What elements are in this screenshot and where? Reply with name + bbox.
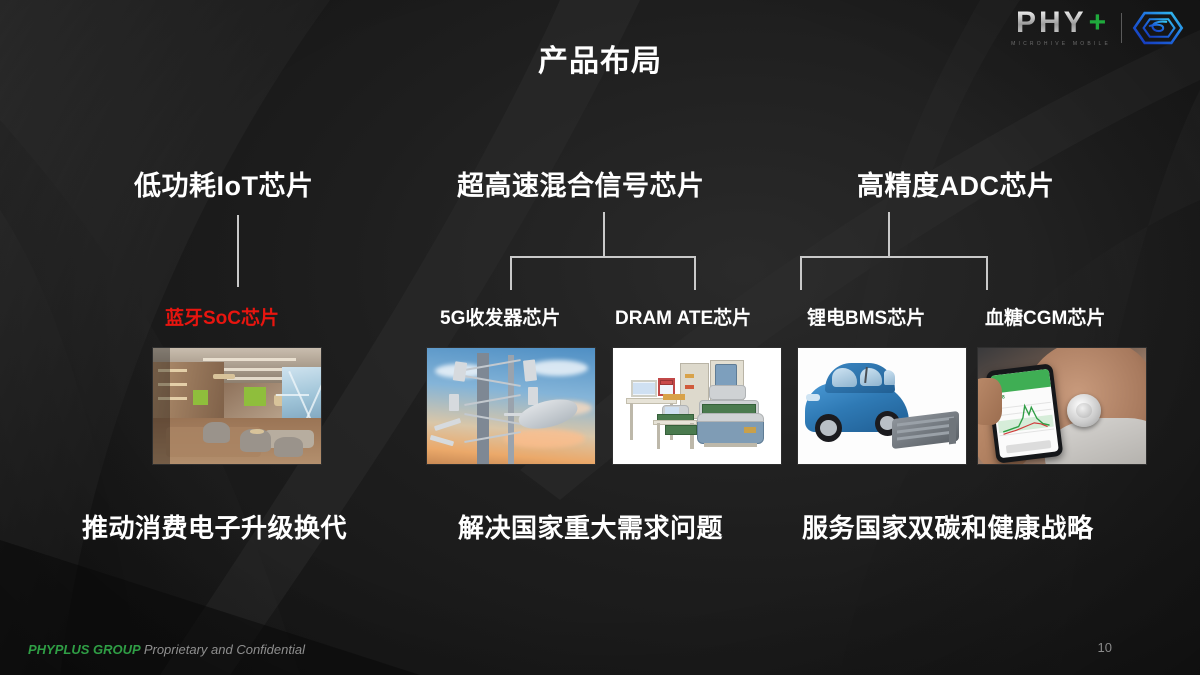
- ate-test-equipment-photo: [612, 347, 782, 465]
- product-label-dram-ate: DRAM ATE芯片: [615, 303, 751, 330]
- 5g-cell-tower-photo: [426, 347, 596, 465]
- connector-line-bms-drop: [800, 256, 802, 290]
- column-heading-mixed-signal: 超高速混合信号芯片: [457, 164, 705, 203]
- logo-brand-text: PHY: [1016, 8, 1087, 38]
- smart-home-interior-photo: [152, 347, 322, 465]
- column-heading-iot: 低功耗IoT芯片: [134, 164, 314, 203]
- slide-title: 产品布局: [0, 36, 1200, 80]
- column-caption-health: 服务国家双碳和健康战略: [802, 508, 1094, 545]
- column-heading-adc: 高精度ADC芯片: [857, 164, 1055, 203]
- connector-line-dram-drop: [694, 256, 696, 290]
- footer-confidentiality-notice: PHYPLUS GROUP Proprietary and Confidenti…: [28, 642, 305, 657]
- connector-line-cgm-drop: [986, 256, 988, 290]
- connector-line-iot-stem: [237, 215, 239, 287]
- slide-root: PHY + MICROHIVE MOBILE 产品布局 低功耗IoT芯片 超高速…: [0, 0, 1200, 675]
- product-label-glucose-cgm: 血糖CGM芯片: [985, 303, 1105, 330]
- product-label-bluetooth-soc: 蓝牙SoC芯片: [165, 303, 279, 330]
- connector-line-adc-bar: [800, 256, 988, 258]
- product-label-5g-transceiver: 5G收发器芯片: [440, 303, 560, 330]
- slide-page-number: 10: [1098, 640, 1112, 655]
- connector-line-5g-drop: [510, 256, 512, 290]
- footer-company-name: PHYPLUS GROUP: [28, 642, 140, 657]
- product-label-lithium-bms: 锂电BMS芯片: [807, 303, 925, 330]
- connector-line-adc-stem: [888, 212, 890, 257]
- electric-vehicle-battery-photo: [797, 347, 967, 465]
- slide-background: [0, 0, 1200, 675]
- logo-plus-icon: +: [1089, 8, 1107, 38]
- footer-notice-text: Proprietary and Confidential: [144, 642, 305, 657]
- column-caption-national: 解决国家重大需求问题: [458, 508, 723, 545]
- connector-line-mixed-bar: [510, 256, 696, 258]
- column-caption-consumer: 推动消费电子升级换代: [82, 508, 347, 545]
- cgm-glucose-sensor-photo: 128: [977, 347, 1147, 465]
- connector-line-mixed-stem: [603, 212, 605, 257]
